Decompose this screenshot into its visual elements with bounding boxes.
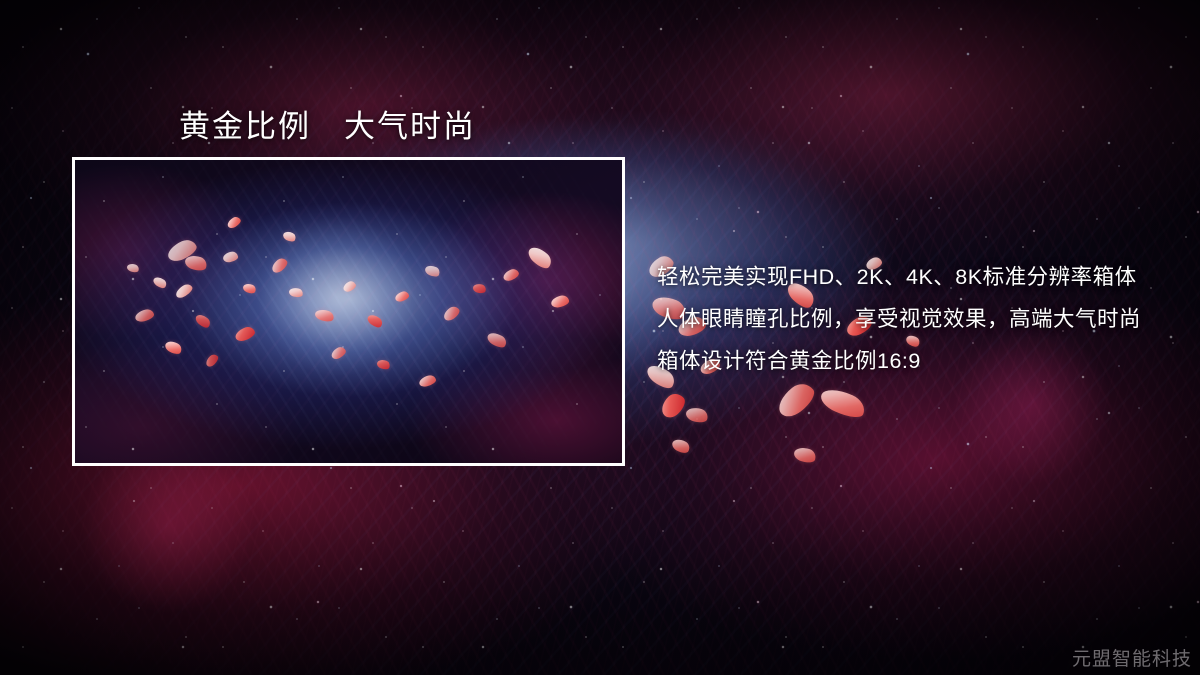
description-line-3: 箱体设计符合黄金比例16:9 (657, 340, 1177, 382)
flower-petal (670, 436, 692, 455)
flower-petal (657, 390, 689, 422)
flower-petal (773, 378, 819, 422)
description-line-2: 人体眼睛瞳孔比例，享受视觉效果，高端大气时尚 (657, 298, 1177, 340)
flower-petal (792, 445, 817, 465)
page-title: 黄金比例 大气时尚 (179, 101, 476, 146)
watermark: 元盟智能科技 (1072, 644, 1192, 671)
slide-canvas: 黄金比例 大气时尚 轻松完美实现FHD、2K、4K、8K标准分辨率箱体 人体眼睛… (0, 0, 1200, 675)
video-preview-panel[interactable] (72, 157, 625, 466)
flower-petal (684, 405, 709, 425)
description-block: 轻松完美实现FHD、2K、4K、8K标准分辨率箱体 人体眼睛瞳孔比例，享受视觉效… (657, 256, 1177, 382)
panel-starfield (75, 160, 622, 463)
flower-petal (818, 384, 869, 423)
description-line-1: 轻松完美实现FHD、2K、4K、8K标准分辨率箱体 (657, 256, 1177, 298)
